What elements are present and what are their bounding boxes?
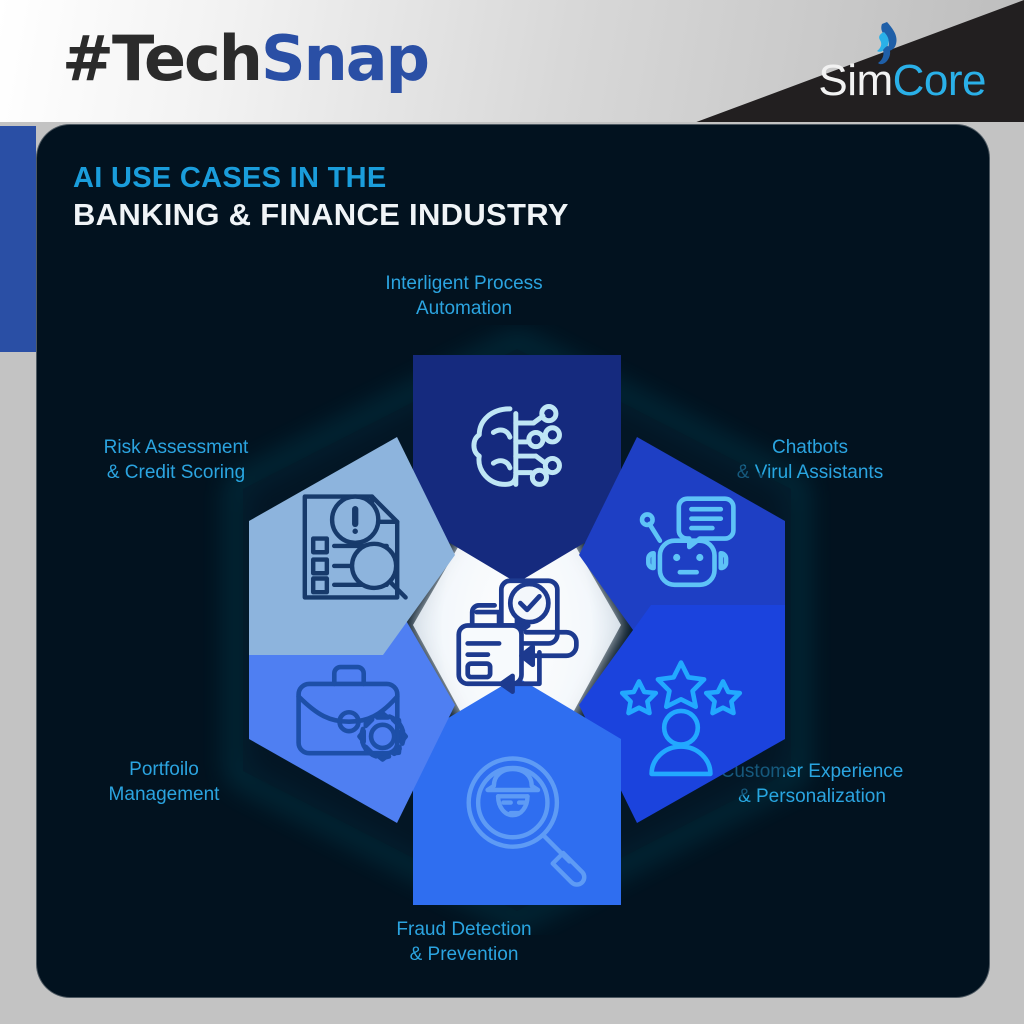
page-title-line1: AI USE CASES IN THE (73, 161, 569, 196)
page-title-line2: BANKING & FINANCE INDUSTRY (73, 196, 569, 234)
segment-label-top-line1: Interligent Process (319, 271, 609, 296)
header-bar: #TechSnap SimCore (0, 0, 1024, 122)
segment-label-bottom-line2: & Prevention (319, 942, 609, 967)
segment-label-top-line2: Automation (319, 296, 609, 321)
left-accent-bar (0, 126, 36, 352)
simcore-logo-second: Core (893, 56, 986, 105)
hexagon-diagram (181, 325, 853, 935)
techsnap-logo: #TechSnap (62, 22, 428, 95)
main-panel: AI USE CASES IN THE BANKING & FINANCE IN… (36, 124, 990, 998)
techsnap-logo-prefix: #Tech (62, 22, 261, 95)
simcore-logo-first: Sim (818, 56, 892, 105)
techsnap-logo-suffix: Snap (261, 22, 428, 95)
infographic-canvas: #TechSnap SimCore AI USE CASES IN THE BA… (0, 0, 1024, 1024)
page-title: AI USE CASES IN THE BANKING & FINANCE IN… (73, 161, 569, 234)
segment-label-top: Interligent Process Automation (319, 271, 609, 322)
simcore-logo: SimCore (818, 56, 986, 106)
